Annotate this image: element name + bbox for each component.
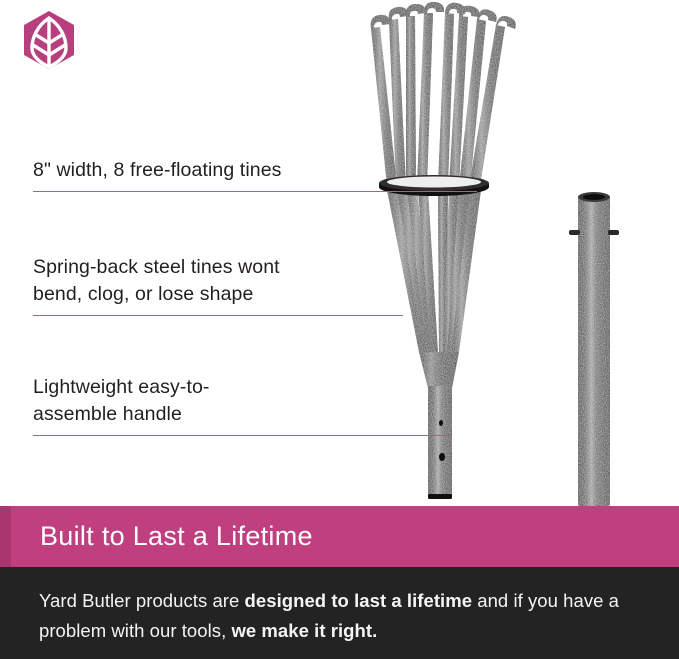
guarantee-footer: Yard Butler products are designed to las… [0, 567, 679, 659]
callout-spring-back-tines: Spring-back steel tines wont bend, clog,… [33, 254, 403, 316]
handle-cross-pin-right [608, 230, 619, 235]
infographic-canvas: 8" width, 8 free-floating tines Spring-b… [0, 0, 679, 659]
callout-lightweight-handle: Lightweight easy-to- assemble handle [33, 374, 451, 436]
footer-plain: Yard Butler products are [39, 590, 245, 611]
lifetime-banner: Built to Last a Lifetime [0, 506, 679, 567]
banner-accent-edge [0, 506, 11, 567]
handle-tube [569, 192, 619, 506]
callout-width-tines-text: 8" width, 8 free-floating tines [33, 157, 477, 184]
callout-width-tines: 8" width, 8 free-floating tines [33, 157, 477, 192]
footer-emphasis: designed to last a lifetime [245, 590, 473, 611]
banner-title: Built to Last a Lifetime [40, 521, 313, 552]
callout-lightweight-handle-text: Lightweight easy-to- assemble handle [33, 374, 451, 428]
ferrule-rivet [439, 453, 445, 461]
guarantee-footer-text: Yard Butler products are designed to las… [39, 586, 647, 646]
callout-divider [33, 435, 451, 436]
callout-divider [33, 315, 403, 316]
callout-divider [33, 191, 477, 192]
footer-emphasis: we make it right. [231, 620, 377, 641]
handle-cross-pin-left [569, 230, 580, 235]
callout-spring-back-tines-text: Spring-back steel tines wont bend, clog,… [33, 254, 403, 308]
